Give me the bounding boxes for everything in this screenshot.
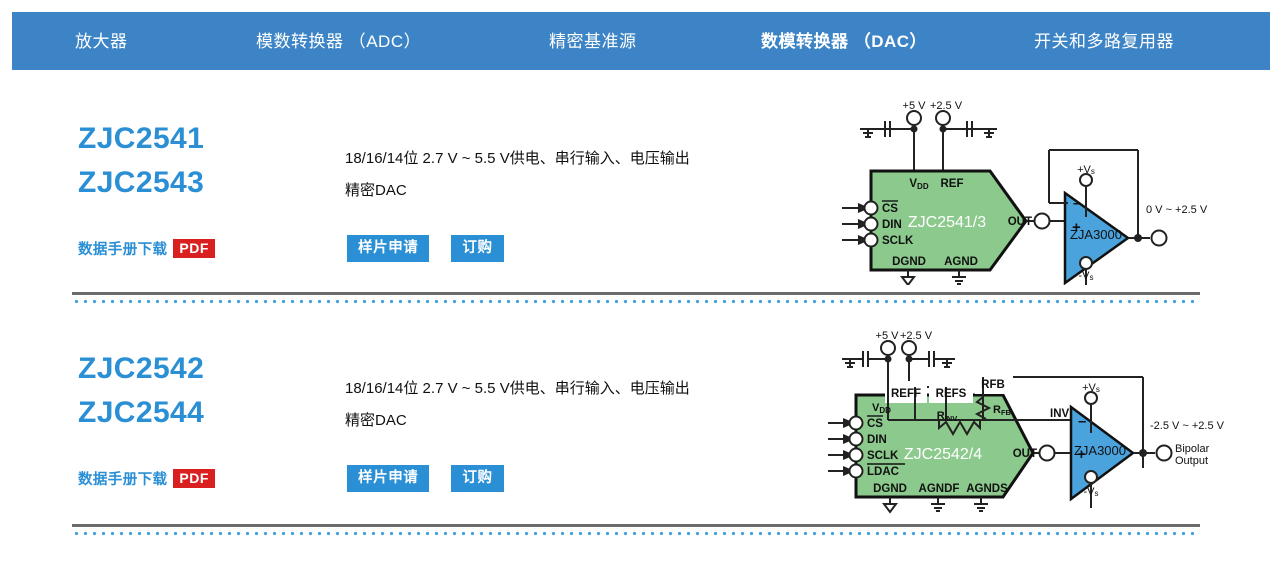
label-opamp-inverting-input: –: [1078, 413, 1086, 430]
label-pin-rfb: RFB: [981, 379, 1005, 391]
supply-terminal-5v: [881, 341, 895, 355]
circuit-output-terminal: [1157, 446, 1172, 461]
description-line-2: 精密DAC: [345, 175, 785, 207]
label-pin-din: DIN: [882, 219, 902, 231]
nav-item-switches-muxes[interactable]: 开关和多路复用器: [1034, 33, 1174, 50]
nav-item-voltage-reference[interactable]: 精密基准源: [549, 33, 637, 50]
product-row-zjc2542: ZJC2542 ZJC2544 数据手册下载 PDF 18/16/14位 2.7…: [0, 325, 1288, 515]
label-pin-cs: CS: [882, 203, 898, 215]
product-description: 18/16/14位 2.7 V ~ 5.5 V供电、串行输入、电压输出 精密DA…: [345, 373, 785, 437]
pdf-badge: PDF: [173, 469, 215, 488]
datasheet-label: 数据手册下载: [78, 238, 167, 259]
circuit-output-terminal: [1152, 231, 1167, 246]
divider-dotted-line: [72, 299, 1200, 304]
action-button-group: 样片申请 订购: [347, 465, 504, 492]
action-button-group: 样片申请 订购: [347, 235, 504, 262]
label-output-range: 0 V ~ +2.5 V: [1146, 204, 1208, 216]
product-row-zjc2541: ZJC2541 ZJC2543 数据手册下载 PDF 18/16/14位 2.7…: [0, 95, 1288, 285]
sample-request-button[interactable]: 样片申请: [347, 465, 429, 492]
application-circuit-diagram-zjc2541: +5 V +2.5 V VDD REF CS DIN SCLK DGND AGN…: [828, 95, 1228, 285]
order-button[interactable]: 订购: [451, 465, 503, 492]
nav-item-dac[interactable]: 数模转换器 （DAC）: [761, 33, 927, 50]
part-number-group: ZJC2541 ZJC2543: [78, 117, 204, 205]
nav-item-adc[interactable]: 模数转换器 （ADC）: [256, 33, 421, 50]
divider-solid-line: [72, 524, 1200, 527]
label-opamp-inverting-input: –: [1073, 195, 1081, 212]
label-output-note-1: Bipolar: [1175, 443, 1210, 455]
label-pin-agndf: AGNDF: [919, 483, 960, 495]
label-pin-din: DIN: [867, 434, 887, 446]
label-pin-out: OUT: [1013, 448, 1037, 460]
part-number-link-zjc2544[interactable]: ZJC2544: [78, 391, 204, 435]
main-navigation-bar: 放大器 模数转换器 （ADC） 精密基准源 数模转换器 （DAC） 开关和多路复…: [12, 12, 1270, 70]
label-pin-dgnd: DGND: [873, 483, 907, 495]
pdf-badge: PDF: [173, 239, 215, 258]
nav-item-amplifiers[interactable]: 放大器: [75, 33, 128, 50]
label-opamp-vs-neg: -Vs: [1079, 270, 1094, 282]
label-pin-ldac: LDAC: [867, 466, 899, 478]
label-chip-zjc2542: ZJC2542/4: [904, 446, 982, 463]
label-pin-sclk: SCLK: [882, 235, 914, 247]
description-line-2: 精密DAC: [345, 405, 785, 437]
label-chip-zjc2541: ZJC2541/3: [908, 214, 986, 231]
label-opamp-vs-neg: -Vs: [1084, 486, 1099, 498]
description-line-1: 18/16/14位 2.7 V ~ 5.5 V供电、串行输入、电压输出: [345, 373, 785, 405]
label-supply-2v5: +2.5 V: [900, 330, 933, 342]
label-pin-ref: REF: [941, 178, 964, 190]
supply-terminal-2v5: [936, 111, 950, 125]
product-description: 18/16/14位 2.7 V ~ 5.5 V供电、串行输入、电压输出 精密DA…: [345, 143, 785, 207]
order-button[interactable]: 订购: [451, 235, 503, 262]
label-pin-agnd: AGND: [944, 256, 978, 268]
supply-terminal-5v: [907, 111, 921, 125]
divider-dotted-line: [72, 531, 1200, 536]
label-opamp-vs-pos: +Vs: [1082, 382, 1100, 394]
description-line-1: 18/16/14位 2.7 V ~ 5.5 V供电、串行输入、电压输出: [345, 143, 785, 175]
datasheet-label: 数据手册下载: [78, 468, 167, 489]
supply-terminal-2v5: [902, 341, 916, 355]
label-opamp-vs-pos: +Vs: [1077, 164, 1095, 176]
label-output-note-2: Output: [1175, 455, 1208, 467]
section-divider-2: [72, 524, 1200, 536]
dac-output-pin: [1035, 214, 1050, 229]
sample-request-button[interactable]: 样片申请: [347, 235, 429, 262]
label-pin-out: OUT: [1008, 216, 1032, 228]
label-pin-cs: CS: [867, 418, 883, 430]
label-supply-2v5: +2.5 V: [930, 100, 963, 112]
label-pin-dgnd: DGND: [892, 256, 926, 268]
label-opamp-zja3000: ZJA3000: [1074, 443, 1126, 458]
datasheet-download-link[interactable]: 数据手册下载 PDF: [78, 238, 215, 259]
label-pin-sclk: SCLK: [867, 450, 899, 462]
part-number-link-zjc2541[interactable]: ZJC2541: [78, 117, 204, 161]
datasheet-download-link[interactable]: 数据手册下载 PDF: [78, 468, 215, 489]
part-number-link-zjc2543[interactable]: ZJC2543: [78, 161, 204, 205]
label-supply-5v: +5 V: [876, 330, 900, 342]
part-number-group: ZJC2542 ZJC2544: [78, 347, 204, 435]
section-divider-1: [72, 292, 1200, 304]
label-supply-5v: +5 V: [903, 100, 927, 112]
label-pin-reff: REFF: [891, 388, 921, 400]
label-pin-agnds: AGNDS: [966, 483, 1008, 495]
label-opamp-zja3000: ZJA3000: [1070, 227, 1122, 242]
divider-solid-line: [72, 292, 1200, 295]
label-node-inv: INV: [1050, 408, 1070, 420]
application-circuit-diagram-zjc2542: +5 V +2.5 V VDD REFF REFS RFB RINV RFB C…: [828, 325, 1228, 515]
dac-output-pin: [1040, 446, 1055, 461]
label-pin-refs: REFS: [936, 388, 967, 400]
part-number-link-zjc2542[interactable]: ZJC2542: [78, 347, 204, 391]
label-output-range: -2.5 V ~ +2.5 V: [1150, 420, 1225, 432]
